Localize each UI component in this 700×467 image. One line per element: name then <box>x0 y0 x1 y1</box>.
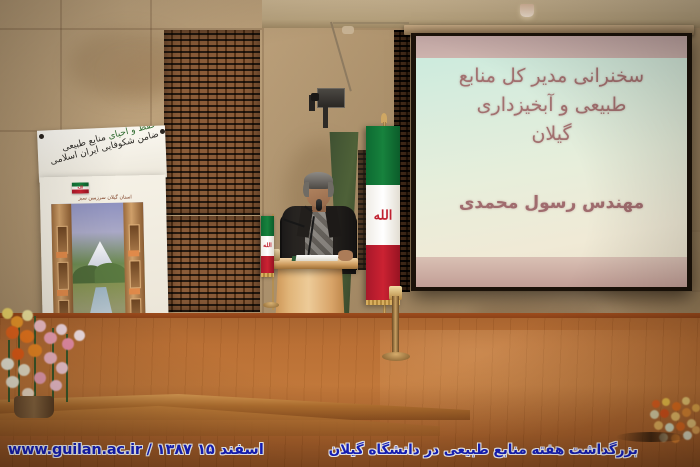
iran-flag-emblem-icon: الله <box>374 208 393 221</box>
screen-bottom-band <box>416 257 687 287</box>
camera-arm <box>333 22 409 24</box>
flag-stripe-green <box>366 126 400 185</box>
caption-website-and-date: www.guilan.ac.ir / ۱۳۸۷ اسفند ۱۵ <box>8 442 264 458</box>
slide-author: مهندس رسول محمدی <box>416 193 687 213</box>
frame-accent <box>56 252 67 258</box>
flower-bloom <box>44 352 57 364</box>
iran-flag-emblem-icon: الله <box>263 243 272 249</box>
flower-bloom <box>56 324 67 335</box>
flag-stripe-white: الله <box>366 185 400 244</box>
flower-bloom <box>20 330 34 343</box>
speaker-hair <box>328 182 334 197</box>
podium-papers <box>296 255 339 261</box>
frame-accent <box>57 290 68 296</box>
projection-screen-surface: سخنرانی مدیر کل منابع طبیعی و آبخیزداری … <box>416 36 687 287</box>
flower-bloom <box>44 332 57 344</box>
projection-screen: سخنرانی مدیر کل منابع طبیعی و آبخیزداری … <box>411 33 692 291</box>
ceiling-light-icon <box>520 4 534 17</box>
frame-inlay <box>57 262 69 290</box>
flower-bloom <box>662 398 670 406</box>
flower-bloom <box>652 400 660 408</box>
auditorium-photo: سخنرانی مدیر کل منابع طبیعی و آبخیزداری … <box>0 0 700 467</box>
flower-bloom <box>50 380 62 391</box>
flower-bloom <box>12 348 24 360</box>
poster-hill <box>94 263 126 284</box>
iran-flag: الله <box>366 126 400 304</box>
spotlight-icon <box>342 26 354 34</box>
flower-bloom <box>62 338 74 350</box>
flower-bloom <box>676 422 685 431</box>
frame-accent <box>129 288 140 294</box>
desk-flag-base <box>263 302 279 308</box>
slide-text-block: سخنرانی مدیر کل منابع طبیعی و آبخیزداری … <box>416 62 687 213</box>
flag-stripe-red <box>72 190 89 194</box>
flag-stripe-white: الله <box>261 236 274 256</box>
flower-bloom <box>672 402 681 411</box>
flower-bloom <box>692 426 700 434</box>
flower-base-shadow <box>616 432 686 442</box>
flower-bloom <box>1 358 14 370</box>
flower-bloom <box>665 423 674 432</box>
speaker-hair <box>303 182 309 197</box>
frame-inlay <box>129 260 141 288</box>
flower-bloom <box>671 412 680 421</box>
flag-stripe-green <box>261 216 274 236</box>
ceiling <box>262 0 700 28</box>
screen-top-band <box>416 36 687 58</box>
candle-stand-pole <box>392 296 399 358</box>
camera-mount <box>323 106 328 128</box>
flower-bloom <box>34 372 46 384</box>
desk-iran-flag: الله <box>261 216 274 276</box>
camera-lens-icon <box>311 93 319 101</box>
slide-line-1: سخنرانی مدیر کل منابع <box>416 62 687 91</box>
video-camera-icon <box>317 88 345 108</box>
flower-arrangement-right <box>648 396 700 456</box>
flower-bloom <box>34 320 46 332</box>
flower-bloom <box>56 362 68 374</box>
frame-accent <box>128 250 139 256</box>
flower-bloom <box>18 364 30 376</box>
banner-headline-rest: منابع طبیعی ضامن شکوفایی ایران اسلامی <box>49 130 160 167</box>
flag-fringe <box>261 273 274 277</box>
flower-arrangement-left <box>0 300 105 420</box>
flower-bloom <box>650 410 659 419</box>
flower-vase <box>14 396 54 418</box>
acoustic-panel <box>164 216 260 312</box>
flower-bloom <box>6 326 19 339</box>
flower-bloom <box>654 421 663 430</box>
acoustic-panel <box>164 30 260 215</box>
candle-stand-base <box>382 352 410 361</box>
flower-bloom <box>28 344 42 357</box>
speaker-hand <box>338 250 353 261</box>
flower-bloom <box>682 408 691 417</box>
flower-bloom <box>692 404 700 412</box>
caption-event-title: بزرگداشت هفته منابع طبیعی در دانشگاه گیل… <box>329 442 638 458</box>
banner-headline-panel: حفظ و احیای منابع طبیعی ضامن شکوفایی ایر… <box>37 125 167 182</box>
flower-bloom <box>74 330 85 341</box>
banner-clip <box>160 129 165 134</box>
flower-stem <box>8 340 10 402</box>
frame-inlay <box>57 226 69 254</box>
flower-bloom <box>22 310 33 321</box>
slide-line-3: گیلان <box>416 120 687 149</box>
banner-calligraphy: حفظ و احیای منابع طبیعی ضامن شکوفایی ایر… <box>40 125 166 182</box>
slide-line-2: طبیعی و آبخیزداری <box>416 91 687 120</box>
microphone-icon <box>316 199 322 211</box>
poster-iran-flag: الله <box>72 182 89 193</box>
banner-clip <box>39 134 44 139</box>
flower-bloom <box>6 376 19 388</box>
flower-bloom <box>660 409 669 418</box>
flower-bloom <box>682 397 690 405</box>
frame-inlay <box>129 224 141 252</box>
poster-title: استان گیلان سرزمین سبز <box>66 194 144 202</box>
